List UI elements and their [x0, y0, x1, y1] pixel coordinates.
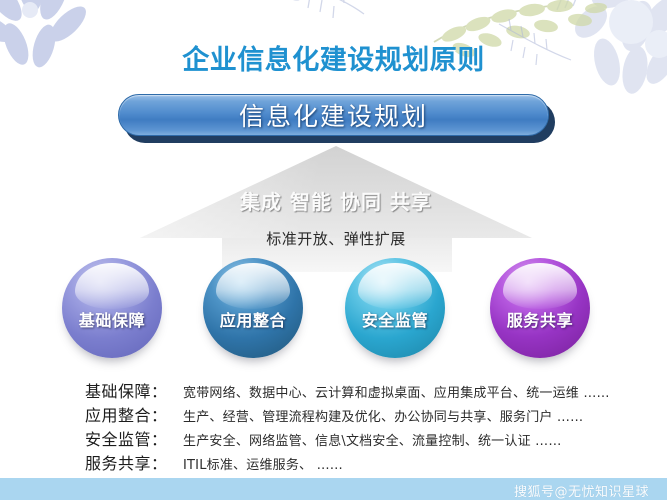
legend-key: 应用整合：	[85, 402, 183, 426]
sphere-body: 安全监管	[345, 258, 445, 358]
sphere-body: 应用整合	[203, 258, 303, 358]
legend-list: 基础保障： 宽带网络、数据中心、云计算和虚拟桌面、应用集成平台、统一运维 …… …	[85, 378, 645, 474]
legend-row: 安全监管： 生产安全、网络监管、信息\文档安全、流量控制、统一认证 ……	[85, 426, 645, 450]
sphere-label: 基础保障	[79, 307, 145, 331]
banner-label: 信息化建设规划	[239, 97, 428, 133]
sphere-service-sharing[interactable]: 服务共享	[490, 258, 590, 358]
legend-value: ITIL标准、运维服务、 ……	[183, 454, 645, 473]
page-title: 企业信息化建设规划原则	[0, 38, 667, 77]
arrow-subtext-label: 标准开放、弹性扩展	[140, 228, 532, 249]
sphere-label: 服务共享	[507, 307, 573, 331]
legend-value: 生产、经营、管理流程构建及优化、办公协同与共享、服务门户 ……	[183, 406, 645, 425]
arrow-keywords-label: 集成 智能 协同 共享	[140, 186, 532, 215]
sphere-basic-support[interactable]: 基础保障	[62, 258, 162, 358]
sphere-application-integration[interactable]: 应用整合	[203, 258, 303, 358]
banner: 信息化建设规划	[118, 94, 549, 138]
legend-key: 基础保障：	[85, 378, 183, 402]
banner-pill: 信息化建设规划	[118, 94, 549, 136]
legend-row: 应用整合： 生产、经营、管理流程构建及优化、办公协同与共享、服务门户 ……	[85, 402, 645, 426]
legend-key: 服务共享：	[85, 450, 183, 474]
watermark-label: 搜狐号@无忧知识星球	[514, 481, 649, 500]
legend-row: 基础保障： 宽带网络、数据中心、云计算和虚拟桌面、应用集成平台、统一运维 ……	[85, 378, 645, 402]
watermark-bar: 搜狐号@无忧知识星球	[0, 478, 667, 500]
sphere-label: 安全监管	[362, 307, 428, 331]
sphere-body: 服务共享	[490, 258, 590, 358]
sphere-body: 基础保障	[62, 258, 162, 358]
sphere-label: 应用整合	[220, 307, 286, 331]
legend-row: 服务共享： ITIL标准、运维服务、 ……	[85, 450, 645, 474]
sphere-security-supervision[interactable]: 安全监管	[345, 258, 445, 358]
slide-canvas: 企业信息化建设规划原则 信息化建设规划 集成 智能 协同 共享 标准开放、弹性扩…	[0, 0, 667, 500]
legend-value: 宽带网络、数据中心、云计算和虚拟桌面、应用集成平台、统一运维 ……	[183, 382, 645, 401]
legend-key: 安全监管：	[85, 426, 183, 450]
legend-value: 生产安全、网络监管、信息\文档安全、流量控制、统一认证 ……	[183, 430, 645, 449]
